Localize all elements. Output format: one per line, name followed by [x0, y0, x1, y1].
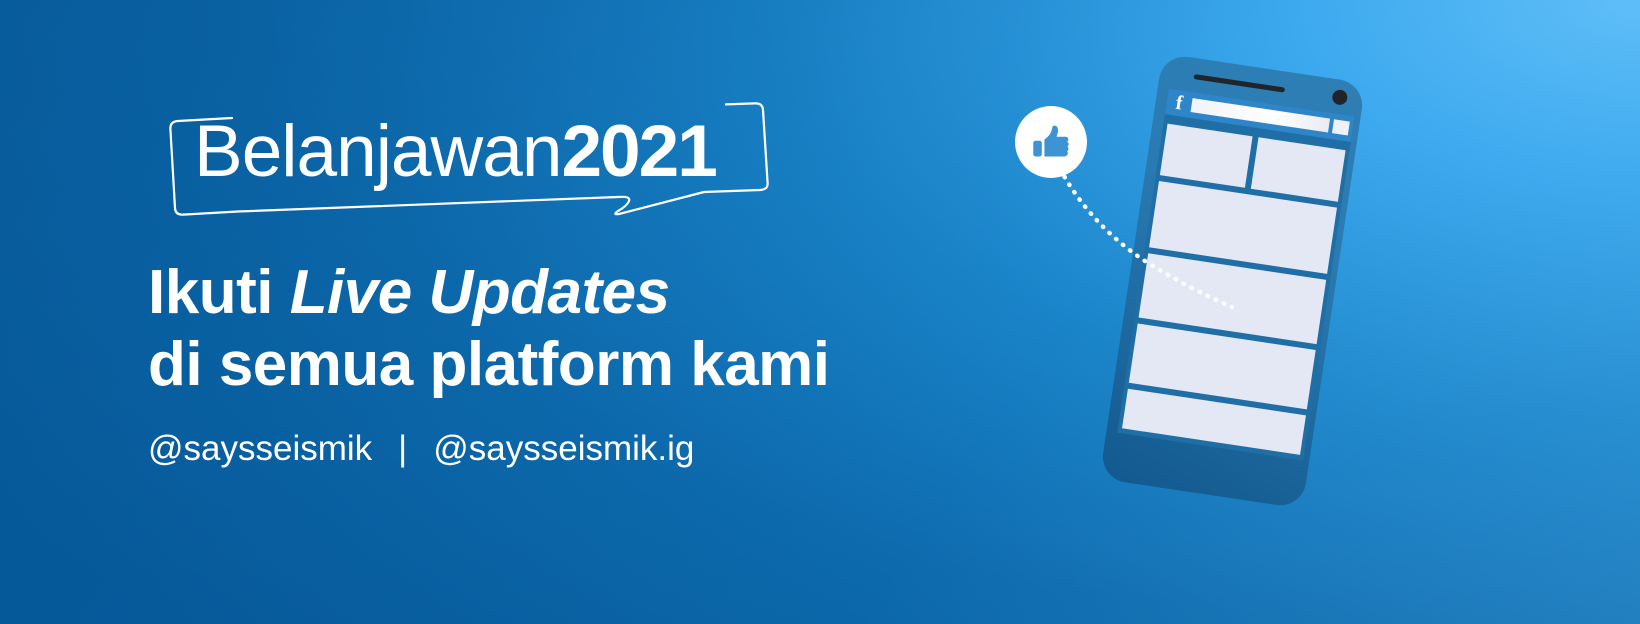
- headline-line-1: Ikuti Live Updates: [148, 258, 1048, 328]
- instagram-handle[interactable]: @saysseismik.ig: [433, 429, 694, 468]
- social-handles: @saysseismik|@saysseismik.ig: [148, 428, 1048, 470]
- headline-italic: Live Updates: [290, 258, 670, 327]
- speech-bubble: Belanjawan2021: [148, 104, 808, 244]
- text-block: Belanjawan2021 Ikuti Live Updates di sem…: [148, 104, 1048, 470]
- dotted-trail: [1050, 165, 1270, 365]
- bubble-title-bold: 2021: [561, 111, 715, 192]
- front-camera-icon: [1331, 89, 1348, 106]
- facebook-logo-icon: f: [1169, 92, 1189, 114]
- bubble-title: Belanjawan2021: [194, 112, 716, 192]
- bubble-title-thin: Belanjawan: [194, 111, 561, 192]
- promo-banner: Belanjawan2021 Ikuti Live Updates di sem…: [0, 0, 1640, 624]
- facebook-handle[interactable]: @saysseismik: [148, 429, 372, 468]
- headline-plain: Ikuti: [148, 258, 290, 327]
- handle-separator: |: [372, 428, 433, 470]
- earpiece-speaker-icon: [1193, 74, 1285, 93]
- headline-line-2: di semua platform kami: [148, 330, 1048, 400]
- phone-illustration: f: [1010, 0, 1490, 624]
- app-bar-button[interactable]: [1332, 119, 1350, 135]
